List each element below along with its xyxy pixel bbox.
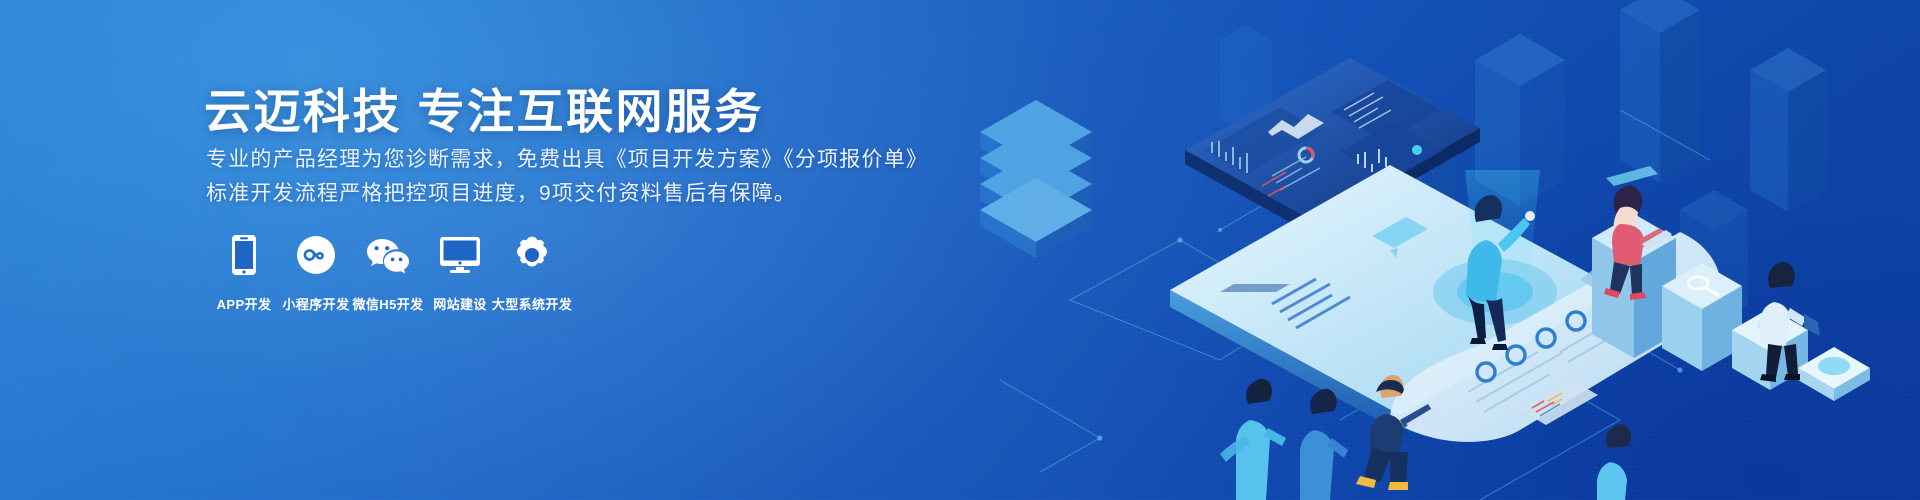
banner-subtitle: 专业的产品经理为您诊断需求，免费出具《项目开发方案》《分项报价单》 标准开发流程… [206,143,928,211]
mobile-phone-icon [231,233,257,277]
service-label: APP开发 [217,294,272,313]
service-label: 微信H5开发 [352,294,423,313]
subtitle-line-2: 标准开发流程严格把控项目进度，9项交付资料售后有保障。 [206,177,928,211]
service-item-large-system[interactable]: 大型系统开发 [496,233,568,313]
wechat-icon [365,233,411,277]
person-far-right [1597,424,1631,500]
person-pair-right [1300,389,1348,500]
service-item-app[interactable]: APP开发 [208,233,280,313]
service-item-website[interactable]: 网站建设 [424,233,496,313]
service-label: 网站建设 [433,294,487,313]
banner-headline: 云迈科技 专注互联网服务 [204,73,764,142]
hero-banner: 云迈科技 专注互联网服务 专业的产品经理为您诊断需求，免费出具《项目开发方案》《… [0,0,1920,500]
person-pair-left [1220,379,1286,500]
service-label: 小程序开发 [282,294,349,313]
service-item-mini-program[interactable]: 小程序开发 [280,233,352,313]
service-item-wechat[interactable]: 微信H5开发 [352,233,424,313]
subtitle-line-1: 专业的产品经理为您诊断需求，免费出具《项目开发方案》《分项报价单》 [206,143,928,177]
banner-content: 云迈科技 专注互联网服务 专业的产品经理为您诊断需求，免费出具《项目开发方案》《… [204,0,964,500]
monitor-icon [439,233,481,277]
isometric-tech-illustration [920,0,1920,500]
service-list: APP开发 小程序开发 [208,233,568,313]
service-label: 大型系统开发 [492,294,572,313]
mini-program-icon [296,233,336,277]
server-stack [980,100,1092,258]
gear-icon [512,233,552,277]
